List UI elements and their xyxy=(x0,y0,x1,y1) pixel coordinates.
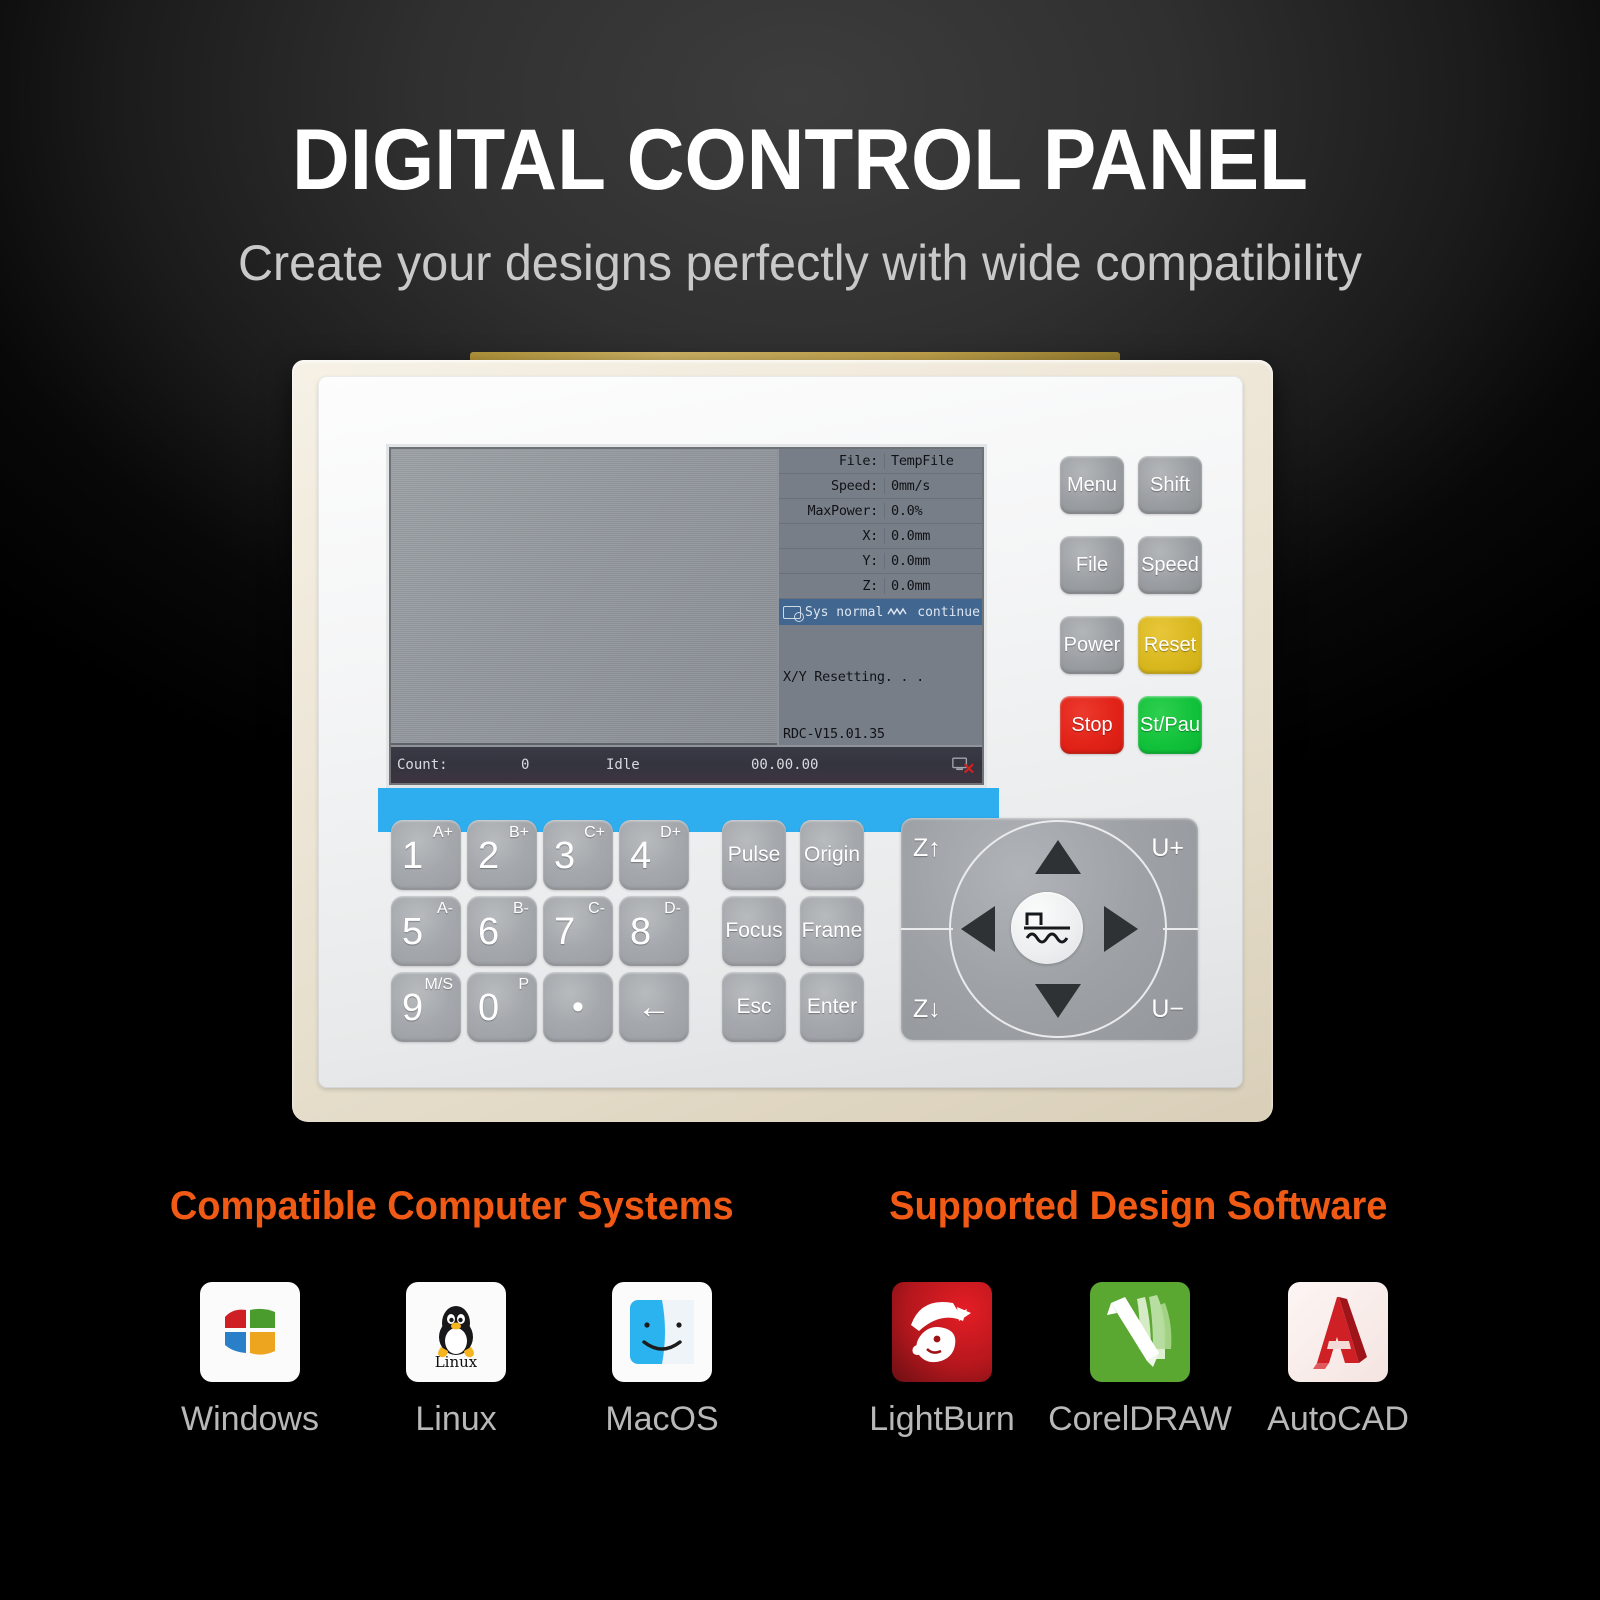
autocad-a-logo-icon xyxy=(1293,1287,1383,1377)
key-pulse[interactable]: Pulse xyxy=(722,820,786,890)
key-digit: 8 xyxy=(630,910,651,954)
key-decimal-point[interactable]: • xyxy=(543,972,613,1042)
lcd-info-key: X: xyxy=(788,528,884,544)
page-title: DIGITAL CONTROL PANEL xyxy=(56,112,1544,208)
svg-text:Linux: Linux xyxy=(435,1353,478,1371)
lcd-info-row: Speed: 0mm/s xyxy=(779,474,982,499)
sys-status-text: Sys normal xyxy=(805,605,883,620)
key-2[interactable]: 2 B+ xyxy=(467,820,537,890)
key-7[interactable]: 7 C- xyxy=(543,896,613,966)
lcd-info-key: Z: xyxy=(788,578,884,594)
lcd-info-value: 0.0mm xyxy=(884,553,976,569)
key-origin[interactable]: Origin xyxy=(800,820,864,890)
lcd-info-key: Y: xyxy=(788,553,884,569)
list-item-coreldraw[interactable]: CorelDRAW xyxy=(1080,1282,1200,1439)
backspace-arrow-icon: ← xyxy=(619,972,689,1042)
key-5[interactable]: 5 A- xyxy=(391,896,461,966)
dpad-divider-left xyxy=(901,928,953,930)
list-item-linux[interactable]: Linux Linux xyxy=(396,1282,516,1439)
list-item-autocad[interactable]: AutoCAD xyxy=(1278,1282,1398,1439)
supported-software-list: LightBurn CorelDRAW xyxy=(882,1282,1398,1439)
list-item-lightburn[interactable]: LightBurn xyxy=(882,1282,1002,1439)
key-digit: 0 xyxy=(478,986,499,1030)
count-label: Count: xyxy=(397,757,448,773)
autocad-logo-tile xyxy=(1288,1282,1388,1382)
lcd-system-status-bar: Sys normal continue xyxy=(779,599,982,625)
key-shift-label: A+ xyxy=(433,824,453,842)
key-z-up[interactable]: Z↑ xyxy=(913,834,941,863)
lcd-info-value: TempFile xyxy=(884,453,976,469)
key-backspace[interactable]: ← xyxy=(619,972,689,1042)
lcd-info-value: 0.0mm xyxy=(884,528,976,544)
logo-label: CorelDRAW xyxy=(1048,1400,1232,1439)
lcd-info-value: 0.0mm xyxy=(884,578,976,594)
page-subtitle: Create your designs perfectly with wide … xyxy=(24,232,1576,294)
laser-head-icon xyxy=(783,606,801,619)
key-speed[interactable]: Speed xyxy=(1138,536,1202,594)
logo-label: Windows xyxy=(181,1400,319,1439)
elapsed-time: 00.00.00 xyxy=(751,757,818,773)
key-digit: 6 xyxy=(478,910,499,954)
lcd-status-bar: Count: 0 Idle 00.00.00 xyxy=(391,747,982,783)
lcd-info-value: 0mm/s xyxy=(884,478,976,494)
coreldraw-logo-tile xyxy=(1090,1282,1190,1382)
key-file[interactable]: File xyxy=(1060,536,1124,594)
key-digit: 1 xyxy=(402,834,423,878)
lcd-display: File: TempFile Speed: 0mm/s MaxPower: 0.… xyxy=(389,447,984,785)
directional-pad[interactable]: Z↑ U+ Z↓ U− xyxy=(901,818,1198,1040)
key-start-pause[interactable]: St/Pau xyxy=(1138,696,1202,754)
lightburn-logo-tile xyxy=(892,1282,992,1382)
key-shift-label: C+ xyxy=(584,824,605,842)
key-3[interactable]: 3 C+ xyxy=(543,820,613,890)
key-shift-label: C- xyxy=(588,900,605,918)
macos-finder-logo-icon xyxy=(622,1292,702,1372)
dpad-left-arrow-icon[interactable] xyxy=(961,906,995,952)
key-digit: 5 xyxy=(402,910,423,954)
key-frame[interactable]: Frame xyxy=(800,896,864,966)
list-item-windows[interactable]: Windows xyxy=(190,1282,310,1439)
key-z-down[interactable]: Z↓ xyxy=(913,995,941,1024)
key-u-plus[interactable]: U+ xyxy=(1151,834,1184,863)
key-0[interactable]: 0 P xyxy=(467,972,537,1042)
list-item-macos[interactable]: MacOS xyxy=(602,1282,722,1439)
count-value: 0 xyxy=(521,757,529,773)
key-esc[interactable]: Esc xyxy=(722,972,786,1042)
key-digit: 9 xyxy=(402,986,423,1030)
section-title-supported-software: Supported Design Software xyxy=(889,1184,1387,1229)
pc-disconnected-icon xyxy=(952,757,974,773)
linux-logo-tile: Linux xyxy=(406,1282,506,1382)
lcd-info-row: MaxPower: 0.0% xyxy=(779,499,982,524)
windows-logo-icon xyxy=(213,1295,287,1369)
log-line: RDC-V15.01.35 xyxy=(783,725,978,744)
section-title-compatible-systems: Compatible Computer Systems xyxy=(170,1184,734,1229)
lcd-info-key: Speed: xyxy=(788,478,884,494)
key-1[interactable]: 1 A+ xyxy=(391,820,461,890)
key-9[interactable]: 9 M/S xyxy=(391,972,461,1042)
log-line: X/Y Resetting. . . xyxy=(783,668,978,687)
key-power[interactable]: Power xyxy=(1060,616,1124,674)
key-reset[interactable]: Reset xyxy=(1138,616,1202,674)
lcd-info-row: X: 0.0mm xyxy=(779,524,982,549)
lcd-info-row: File: TempFile xyxy=(779,449,982,474)
key-shift[interactable]: Shift xyxy=(1138,456,1202,514)
logo-label: MacOS xyxy=(605,1400,718,1439)
dpad-center-pulse-button[interactable] xyxy=(1011,892,1083,964)
key-focus[interactable]: Focus xyxy=(722,896,786,966)
key-4[interactable]: 4 D+ xyxy=(619,820,689,890)
key-digit: 4 xyxy=(630,834,651,878)
key-menu[interactable]: Menu xyxy=(1060,456,1124,514)
key-u-minus[interactable]: U− xyxy=(1151,995,1184,1024)
logo-label: AutoCAD xyxy=(1267,1400,1409,1439)
pulse-wave-icon xyxy=(1021,905,1073,951)
dpad-divider-right xyxy=(1163,928,1198,930)
dpad-right-arrow-icon[interactable] xyxy=(1104,906,1138,952)
key-digit: 3 xyxy=(554,834,575,878)
key-digit: 2 xyxy=(478,834,499,878)
key-6[interactable]: 6 B- xyxy=(467,896,537,966)
logo-label: Linux xyxy=(415,1400,496,1439)
logo-label: LightBurn xyxy=(869,1400,1015,1439)
key-8[interactable]: 8 D- xyxy=(619,896,689,966)
windows-logo-tile xyxy=(200,1282,300,1382)
lcd-preview-area xyxy=(391,449,777,745)
dot-icon: • xyxy=(543,972,613,1042)
lcd-info-panel: File: TempFile Speed: 0mm/s MaxPower: 0.… xyxy=(779,449,982,745)
lcd-info-row: Y: 0.0mm xyxy=(779,549,982,574)
key-shift-label: D+ xyxy=(660,824,681,842)
waveform-icon xyxy=(887,606,913,618)
lcd-info-row: Z: 0.0mm xyxy=(779,574,982,599)
sys-continue-text: continue xyxy=(917,605,980,620)
machine-state: Idle xyxy=(606,757,640,773)
compatible-systems-list: Windows Linux Linux xyxy=(190,1282,722,1439)
key-shift-label: B+ xyxy=(509,824,529,842)
lcd-info-value: 0.0% xyxy=(884,503,976,519)
linux-penguin-logo-icon: Linux xyxy=(417,1293,495,1371)
macos-logo-tile xyxy=(612,1282,712,1382)
key-digit: 7 xyxy=(554,910,575,954)
key-shift-label: P xyxy=(518,976,529,994)
lightburn-dragon-logo-icon xyxy=(897,1287,987,1377)
key-shift-label: M/S xyxy=(425,976,453,994)
lcd-info-key: File: xyxy=(788,453,884,469)
coreldraw-balloon-logo-icon xyxy=(1095,1287,1185,1377)
key-enter[interactable]: Enter xyxy=(800,972,864,1042)
key-shift-label: A- xyxy=(437,900,453,918)
lcd-info-key: MaxPower: xyxy=(788,503,884,519)
dpad-up-arrow-icon[interactable] xyxy=(1035,840,1081,874)
key-shift-label: B- xyxy=(513,900,529,918)
key-stop[interactable]: Stop xyxy=(1060,696,1124,754)
dpad-down-arrow-icon[interactable] xyxy=(1035,984,1081,1018)
promo-page: DIGITAL CONTROL PANEL Create your design… xyxy=(0,0,1600,1600)
key-shift-label: D- xyxy=(664,900,681,918)
